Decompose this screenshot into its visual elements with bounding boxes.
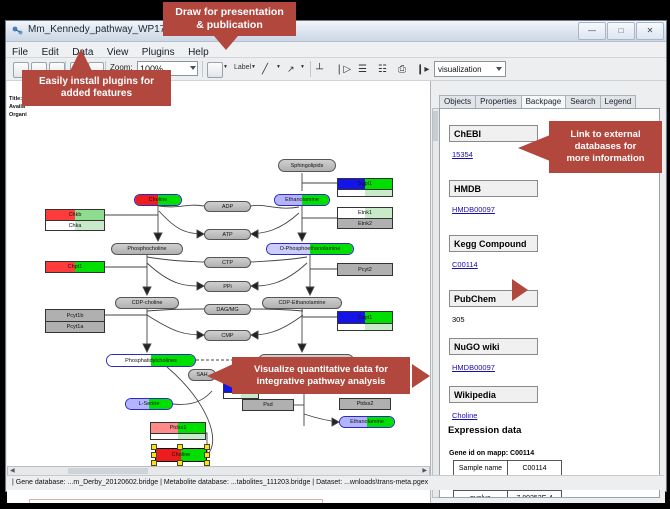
share-banner: Share on Wikipathways.org [29, 499, 323, 503]
node-label: Pcyt1a [67, 324, 84, 330]
callout-arrow-down-top [214, 36, 238, 50]
node-label: SAH [196, 372, 207, 378]
callout-arrow-expression-data [512, 279, 528, 301]
callout-arrow-left-bottom [207, 364, 233, 388]
selection-handle-n[interactable] [177, 444, 183, 450]
node-label: Chkb [69, 212, 82, 218]
node-etnk1[interactable]: Etnk1 [337, 207, 393, 218]
interaction-tool-caret[interactable]: ▼ [300, 64, 305, 70]
node-cdp-ethanolamine[interactable]: CDP-Ethanolamine [262, 297, 342, 309]
text-tool-icon[interactable] [207, 62, 223, 78]
tab-legend[interactable]: Legend [600, 95, 637, 108]
print-icon[interactable]: ⎙ [398, 64, 406, 75]
node-label: Sgpl1 [358, 181, 372, 187]
db-link-wikipedia[interactable]: Choline [452, 411, 477, 420]
chevron-down-icon[interactable] [190, 66, 196, 70]
node-label: Chka [69, 223, 82, 229]
table-row: Sample name C00114 [454, 461, 562, 476]
db-link-hmdb[interactable]: HMDB00097 [452, 205, 495, 214]
stack-icon[interactable]: ☰ [358, 64, 367, 75]
toolbar-separator-3 [202, 61, 203, 77]
tab-backpage[interactable]: Backpage [521, 95, 567, 109]
align-left-icon[interactable]: ❘▷ [335, 64, 351, 75]
node-phosphatidylcholines[interactable]: Phosphatidylcholines [106, 354, 196, 367]
visualization-value: visualization [438, 65, 482, 74]
node-adp[interactable]: ADP [204, 201, 251, 212]
node-label: PPi [223, 284, 232, 290]
hscroll-thumb[interactable] [68, 468, 148, 474]
node-label: CDP-Ethanolamine [278, 300, 325, 306]
node-label: Choline [149, 197, 168, 203]
node-ptdss1-row2[interactable] [150, 433, 206, 440]
node-ctp[interactable]: CTP [204, 257, 251, 268]
selection-handle-e[interactable] [204, 452, 210, 458]
node-label: Ptdss1 [170, 425, 187, 431]
node-label: Pcyt1b [67, 313, 84, 319]
db-header-nugo-wiki: NuGO wiki [449, 338, 538, 355]
side-panel-tabs[interactable]: Objects Properties Backpage Search Legen… [439, 94, 635, 108]
node-label: Etnk2 [358, 221, 372, 227]
tab-objects[interactable]: Objects [439, 95, 476, 108]
node-label: Ethanolamine [350, 419, 384, 425]
node-sphingolipids[interactable]: Sphingolipids [278, 159, 336, 172]
node-chkb[interactable]: Chkb [45, 209, 105, 220]
window-controls[interactable]: — □ ✕ [578, 22, 664, 40]
align-top-icon[interactable]: ┴ [316, 64, 323, 75]
node-ppi[interactable]: PPi [204, 281, 251, 292]
node-pcyt2[interactable]: Pcyt2 [337, 263, 393, 276]
window-titlebar: Mm_Kennedy_pathway_WP1771_45176.gpml — □… [6, 21, 666, 42]
callout-visualize-quantitative-data: Visualize quantitative data for integrat… [232, 357, 410, 394]
node-label: Chpt1 [68, 264, 83, 270]
maximize-button[interactable]: □ [607, 22, 635, 40]
toolbar-separator-4 [310, 61, 311, 77]
node-label: Pcyt2 [358, 267, 372, 273]
visualization-combobox[interactable]: visualization [434, 61, 506, 77]
selection-handle-nw[interactable] [151, 444, 157, 450]
node-sgpl1[interactable]: Sgpl1 [337, 178, 393, 189]
db-header-kegg-compound: Kegg Compound [449, 235, 538, 252]
pathway-edges [7, 81, 430, 503]
vscroll-thumb[interactable] [433, 111, 438, 141]
node-label: ADP [222, 204, 233, 210]
node-label: Phosphocholine [127, 246, 166, 252]
callout-easily-install-plugins: Easily install plugins for added feature… [22, 70, 171, 106]
label-tool-caret[interactable]: ▼ [251, 64, 256, 70]
status-bar-text: | Gene database: ...m_Derby_20120602.bri… [7, 476, 664, 490]
tab-search[interactable]: Search [565, 95, 600, 108]
scroll-right-arrow-icon[interactable]: ▶ [422, 469, 427, 474]
line-tool-caret[interactable]: ▼ [276, 64, 281, 70]
node-label: CMP [221, 333, 233, 339]
node-chpt1[interactable]: Chpt1 [45, 261, 105, 273]
interaction-tool-icon[interactable]: ↗ [287, 64, 295, 75]
text-tool-caret[interactable]: ▼ [223, 64, 228, 70]
node-label: ATP [222, 232, 232, 238]
pathvisio-icon [11, 24, 24, 37]
cell-value: 7.80252E-4 [508, 491, 562, 499]
node-label: O-Phosphoethanolamine [280, 246, 341, 252]
node-phosphocholine[interactable]: Phosphocholine [111, 243, 183, 255]
node-ethanolamine-top[interactable]: Ethanolamine [274, 194, 330, 206]
cell-label: pvalue [454, 491, 508, 499]
node-label: Sphingolipids [291, 163, 324, 169]
node-sgpl1-row2[interactable] [337, 189, 393, 197]
db-link-kegg-compound[interactable]: C00114 [452, 260, 478, 269]
screenshot-root: Mm_Kennedy_pathway_WP1771_45176.gpml — □… [0, 0, 670, 509]
node-atp[interactable]: ATP [204, 229, 251, 240]
node-ethanolamine-bottom[interactable]: Ethanolamine [339, 416, 395, 428]
chevron-down-icon[interactable] [496, 67, 502, 71]
node-cdp-choline[interactable]: CDP-choline [115, 297, 179, 309]
node-label: Ptdss2 [357, 401, 374, 407]
node-label: Psd [263, 402, 272, 408]
node-etnk2[interactable]: Etnk2 [337, 218, 393, 229]
label-tool-label[interactable]: Label [234, 64, 251, 71]
node-o-phosphoethanolamine[interactable]: O-Phosphoethanolamine [266, 243, 354, 255]
cell-label: Sample name [454, 461, 508, 476]
node-label: L-Serine [139, 401, 160, 407]
node-label: CDP-choline [132, 300, 163, 306]
status-bar: | Gene database: ...m_Derby_20120602.bri… [7, 475, 664, 490]
selection-handle-ne[interactable] [204, 444, 210, 450]
scroll-left-arrow-icon[interactable]: ◀ [10, 469, 15, 474]
gene-id-on-mapp: Gene id on mapp: C00114 [449, 450, 534, 457]
node-label: Ethanolamine [285, 197, 319, 203]
node-psd[interactable]: Psd [242, 399, 294, 411]
node-chka[interactable]: Chka [45, 220, 105, 231]
line-tool-icon[interactable]: ╱ [262, 64, 268, 75]
db-header-hmdb: HMDB [449, 180, 538, 197]
node-label: CTP [222, 260, 233, 266]
selection-handle-w[interactable] [151, 452, 157, 458]
group-icon[interactable]: ❙▸ [416, 64, 429, 75]
node-cmp[interactable]: CMP [204, 330, 251, 341]
cell-value: C00114 [508, 461, 562, 476]
distribute-icon[interactable]: ☷ [378, 64, 387, 75]
tab-properties[interactable]: Properties [475, 95, 521, 108]
pathway-canvas[interactable]: Title: Availa Organi [7, 81, 431, 503]
node-choline-top[interactable]: Choline [134, 194, 182, 206]
node-l-serine-left[interactable]: L-Serine [125, 398, 173, 410]
menubar[interactable]: File Edit Data View Plugins Help [6, 42, 666, 58]
node-ptdss2[interactable]: Ptdss2 [339, 398, 391, 410]
node-label: Choline [172, 452, 191, 458]
node-pcyt1a[interactable]: Pcyt1a [45, 321, 105, 333]
node-cept1[interactable]: Cept1 [337, 311, 393, 323]
callout-draw-for-presentation: Draw for presentation & publication [163, 2, 296, 36]
db-value-pubchem: 305 [452, 315, 465, 324]
node-label: Etnk1 [358, 210, 372, 216]
node-label: Cept1 [358, 315, 373, 321]
db-link-nugo-wiki[interactable]: HMDB00097 [452, 363, 495, 372]
table-row: pvalue 7.80252E-4 [454, 491, 562, 499]
node-label: DAG/MG [216, 307, 238, 313]
callout-arrow-up-left [70, 49, 92, 71]
db-link-chebi[interactable]: 15354 [452, 150, 473, 159]
node-ptdss1[interactable]: Ptdss1 [150, 422, 206, 433]
close-button[interactable]: ✕ [636, 22, 664, 40]
callout-link-to-external-databases: Link to external databases for more info… [549, 121, 662, 173]
node-label: Phosphatidylcholines [125, 358, 177, 364]
minimize-button[interactable]: — [578, 22, 606, 40]
node-cept1-row2[interactable] [337, 323, 393, 331]
node-pcyt1b[interactable]: Pcyt1b [45, 309, 105, 321]
callout-arrow-right-bottom [412, 364, 430, 388]
db-header-wikipedia: Wikipedia [449, 386, 538, 403]
expression-data-header: Expression data [448, 425, 521, 436]
node-dag-mg[interactable]: DAG/MG [204, 304, 251, 315]
callout-arrow-left-right [518, 135, 550, 161]
